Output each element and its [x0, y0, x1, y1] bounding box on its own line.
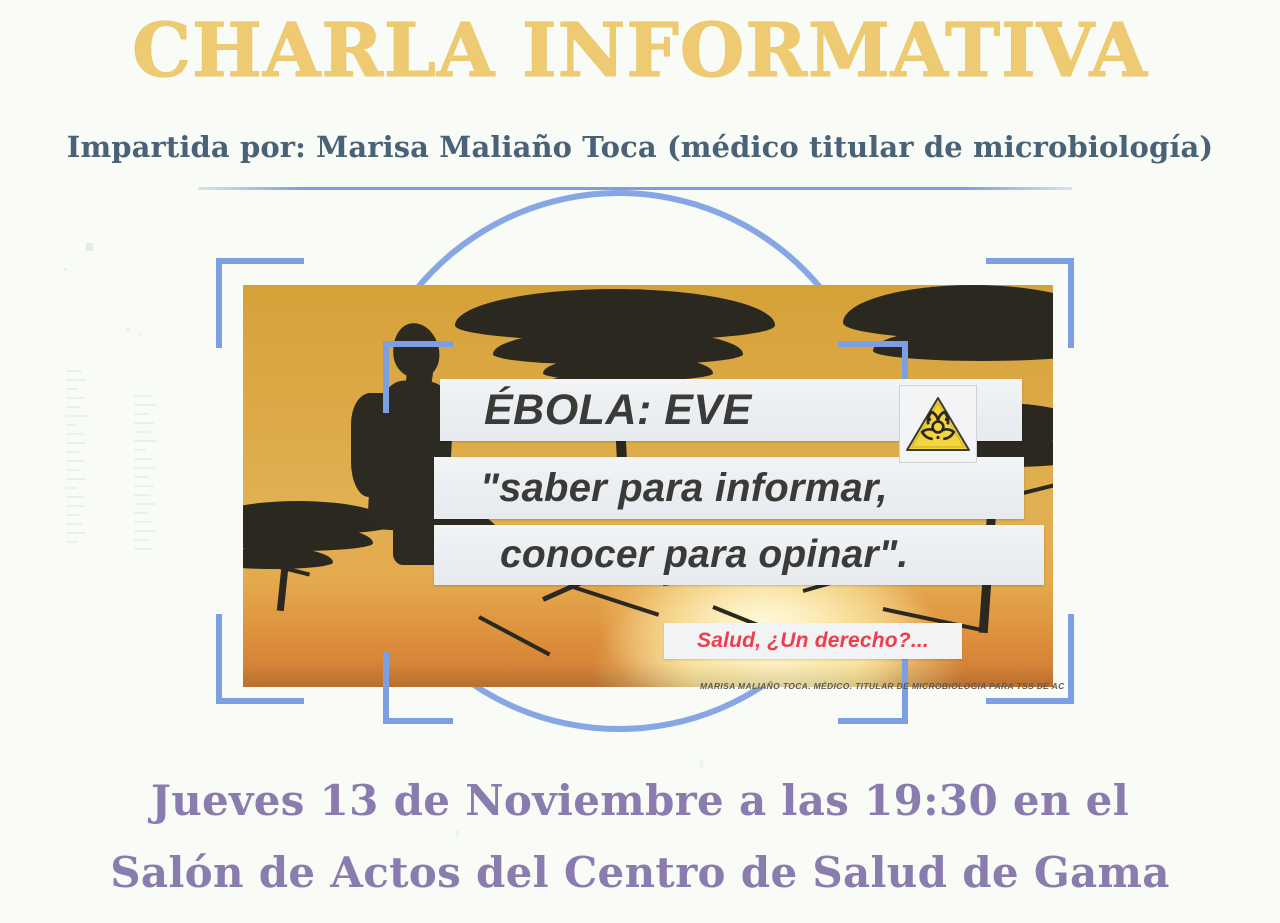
scan-artifact	[139, 333, 142, 336]
scan-artifact-column	[66, 370, 88, 550]
poster-title: CHARLA INFORMATIVA	[0, 14, 1280, 88]
alert-banner: Salud, ¿Un derecho?...	[664, 623, 962, 659]
scan-artifact	[64, 268, 67, 271]
alert-banner-text: Salud, ¿Un derecho?...	[697, 629, 929, 653]
slide-quote-line-1: "saber para informar,	[480, 466, 888, 511]
scan-artifact-column	[134, 395, 158, 557]
biohazard-icon	[904, 394, 972, 454]
scan-artifact	[700, 760, 703, 769]
inner-bracket-bottom-left	[383, 652, 453, 724]
poster-subtitle: Impartida por: Marisa Maliaño Toca (médi…	[0, 130, 1280, 164]
slide-quote-panel-2: conocer para opinar".	[434, 525, 1044, 585]
slide-headline: ÉBOLA: EVE	[484, 386, 752, 435]
slide-credit: MARISA MALIAÑO TOCA. MÉDICO. TITULAR DE …	[700, 681, 1100, 691]
scan-artifact	[86, 243, 93, 251]
slide-quote-panel-1: "saber para informar,	[434, 457, 1024, 519]
event-details: Jueves 13 de Noviembre a las 19:30 en el…	[0, 772, 1280, 902]
scan-artifact	[126, 327, 130, 331]
event-venue: Salón de Actos del Centro de Salud de Ga…	[0, 844, 1280, 902]
slide-quote-line-2: conocer para opinar".	[500, 533, 908, 577]
poster-canvas: CHARLA INFORMATIVA Impartida por: Marisa…	[0, 0, 1280, 923]
biohazard-badge	[899, 385, 977, 463]
event-datetime: Jueves 13 de Noviembre a las 19:30 en el	[0, 772, 1280, 830]
